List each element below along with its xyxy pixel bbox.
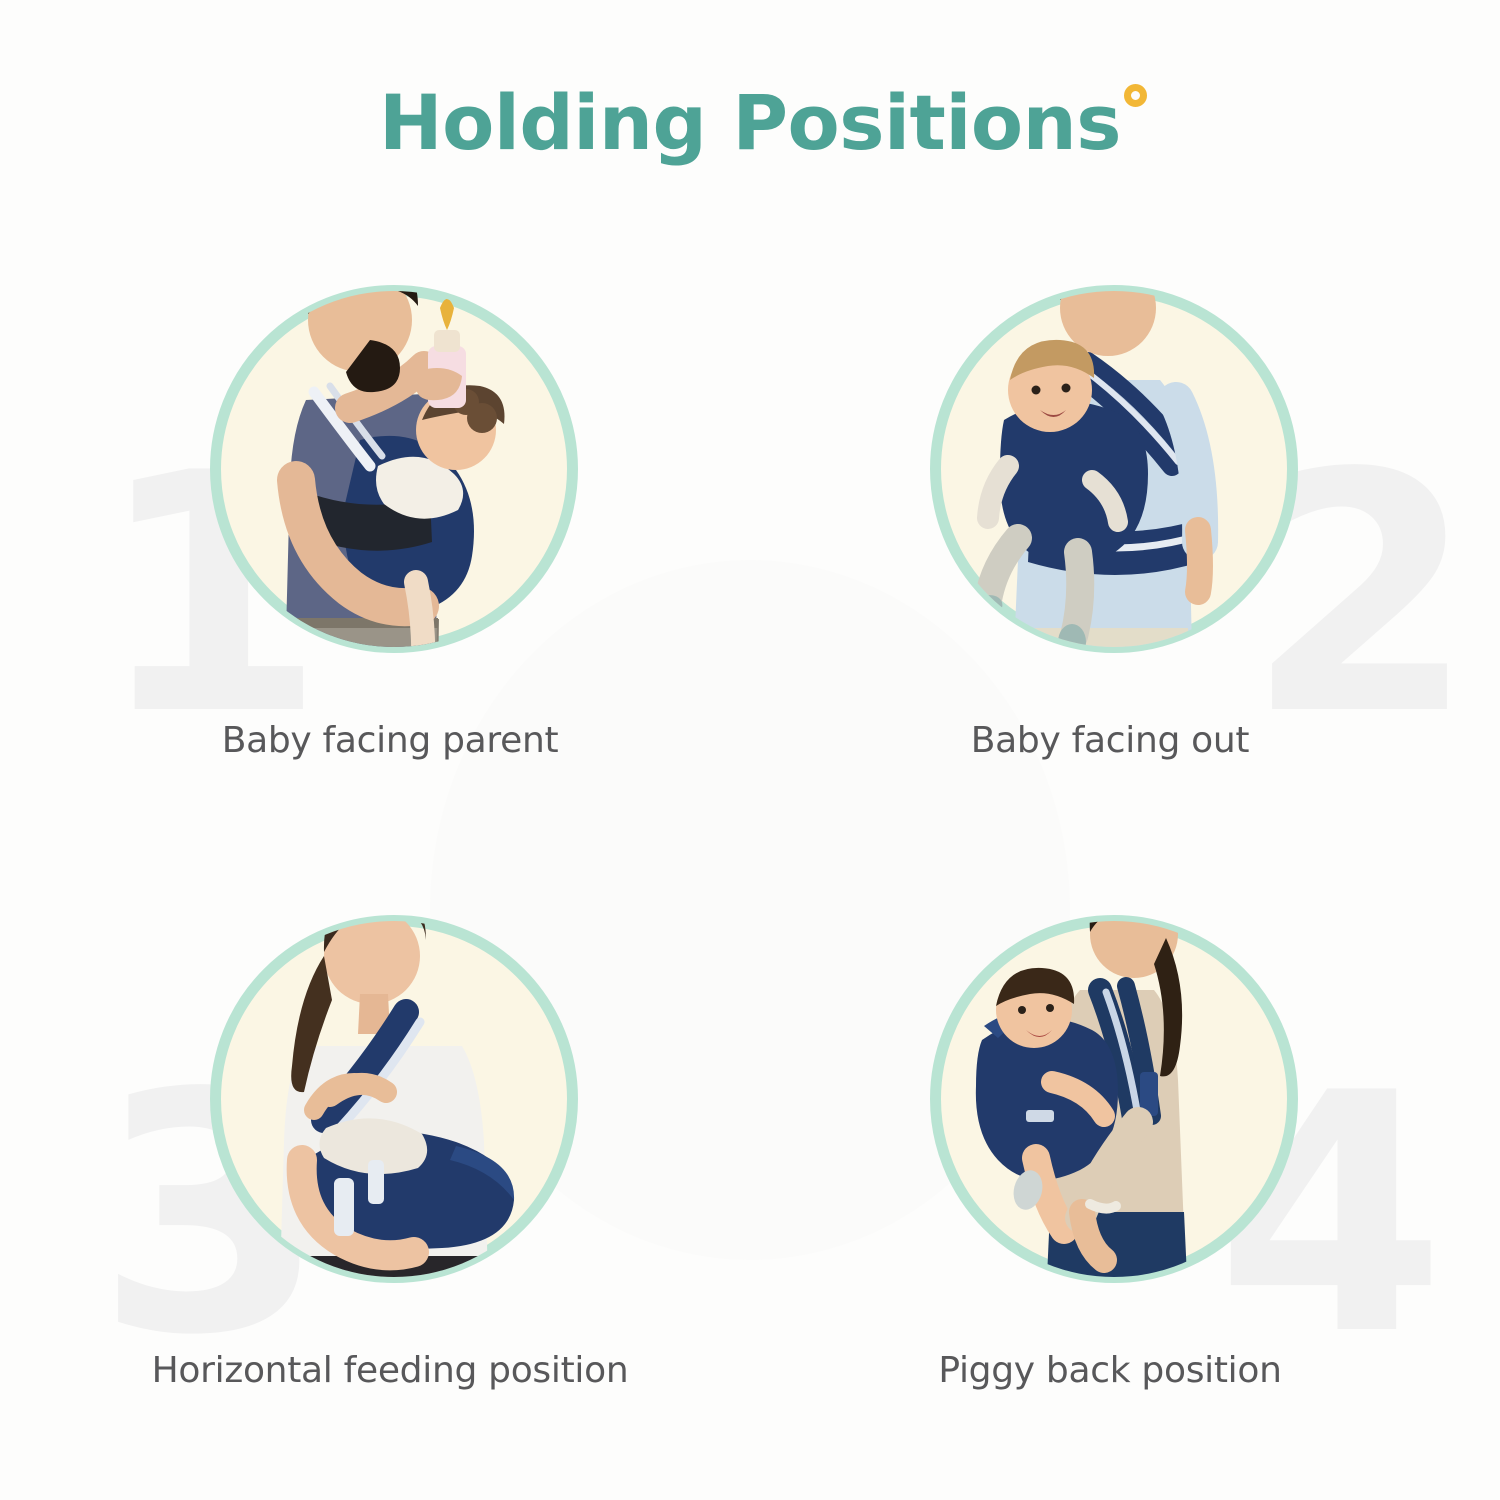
position-3-caption: Horizontal feeding position [110, 1350, 670, 1391]
page-title-text: Holding Positions [379, 78, 1121, 167]
page-title: Holding Positions [379, 78, 1121, 167]
position-3-image-stage [210, 860, 570, 1340]
position-1-image-stage [210, 230, 570, 710]
position-card-3[interactable]: Horizontal feeding position [110, 830, 670, 1450]
position-card-4[interactable]: Piggy back position [830, 830, 1390, 1450]
position-4-photo [930, 860, 1298, 1330]
position-1-photo [210, 230, 578, 700]
position-card-2[interactable]: Baby facing out [830, 200, 1390, 820]
position-3-photo [210, 860, 578, 1330]
position-4-caption: Piggy back position [830, 1350, 1390, 1391]
position-2-image-stage [930, 230, 1290, 710]
position-card-1[interactable]: Baby facing parent [110, 200, 670, 820]
title-accent-dot-icon [1124, 84, 1147, 107]
position-4-image-stage [930, 860, 1290, 1340]
position-2-photo [930, 230, 1298, 700]
position-1-caption: Baby facing parent [110, 720, 670, 761]
page-title-wrap: Holding Positions [0, 78, 1500, 167]
position-2-caption: Baby facing out [830, 720, 1390, 761]
